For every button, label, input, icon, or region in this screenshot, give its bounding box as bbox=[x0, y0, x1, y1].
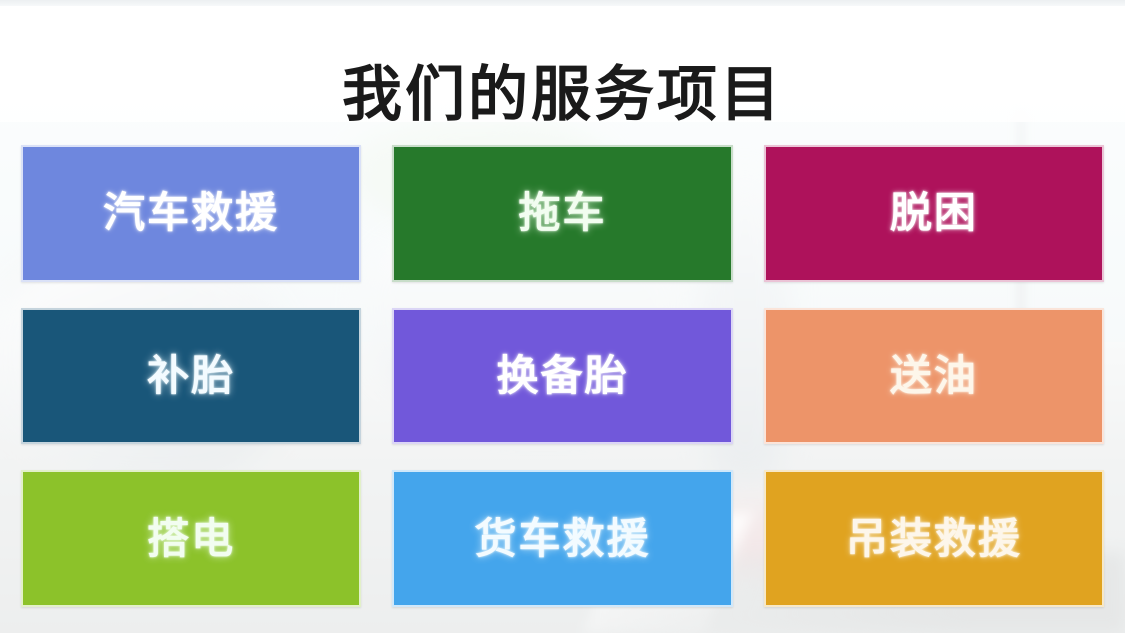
service-tile-spare-tire-change[interactable]: 换备胎 bbox=[392, 308, 732, 445]
service-tile-fuel-delivery[interactable]: 送油 bbox=[764, 308, 1104, 445]
top-band bbox=[0, 0, 1125, 6]
service-tile-label: 汽车救援 bbox=[103, 192, 279, 234]
page-title-row: 我们的服务项目 bbox=[0, 22, 1125, 168]
service-tile-label: 搭电 bbox=[147, 518, 235, 560]
service-tile-label: 货车救援 bbox=[474, 518, 650, 560]
service-tile-label: 送油 bbox=[890, 355, 978, 397]
service-tile-label: 换备胎 bbox=[496, 355, 628, 397]
service-tile-label: 拖车 bbox=[518, 192, 606, 234]
service-tile-truck-rescue[interactable]: 货车救援 bbox=[392, 470, 732, 607]
service-tile-tire-repair[interactable]: 补胎 bbox=[21, 308, 361, 445]
service-tile-grid: 汽车救援 拖车 脱困 补胎 换备胎 送油 搭电 货车救援 吊装救援 bbox=[21, 145, 1104, 607]
page-title: 我们的服务项目 bbox=[342, 62, 783, 128]
service-tile-label: 补胎 bbox=[147, 355, 235, 397]
service-tile-label: 脱困 bbox=[890, 192, 978, 234]
service-tile-jump-start[interactable]: 搭电 bbox=[21, 470, 361, 607]
service-poster: 我们的服务项目 汽车救援 拖车 脱困 补胎 换备胎 送油 搭电 货车救援 吊装救… bbox=[0, 0, 1125, 633]
service-tile-label: 吊装救援 bbox=[846, 518, 1022, 560]
service-tile-crane-rescue[interactable]: 吊装救援 bbox=[764, 470, 1104, 607]
